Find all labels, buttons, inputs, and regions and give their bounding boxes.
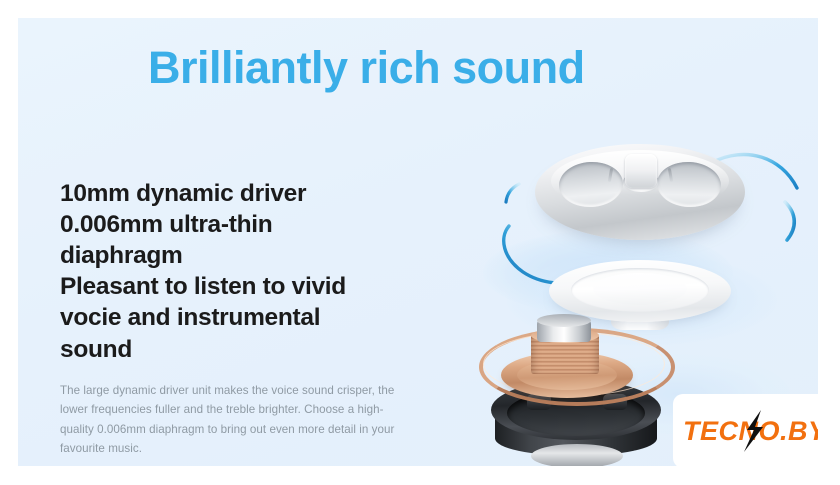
content-card: Brilliantly rich sound 10mm dynamic driv… [18,18,818,466]
diaphragm-part [549,260,731,334]
feature-description: The large dynamic driver unit makes the … [60,381,412,459]
page-title: Brilliantly rich sound [148,42,585,94]
feature-heading: 10mm dynamic driver 0.006mm ultra-thin d… [60,178,430,365]
copy-block: 10mm dynamic driver 0.006mm ultra-thin d… [60,178,430,459]
watermark-logo: TECNO.BY [673,394,818,466]
top-plate-part [535,144,745,262]
lightning-bolt-icon [741,410,767,452]
promo-banner: Brilliantly rich sound 10mm dynamic driv… [0,0,840,485]
logo-wrap: TECNO.BY [683,414,818,448]
